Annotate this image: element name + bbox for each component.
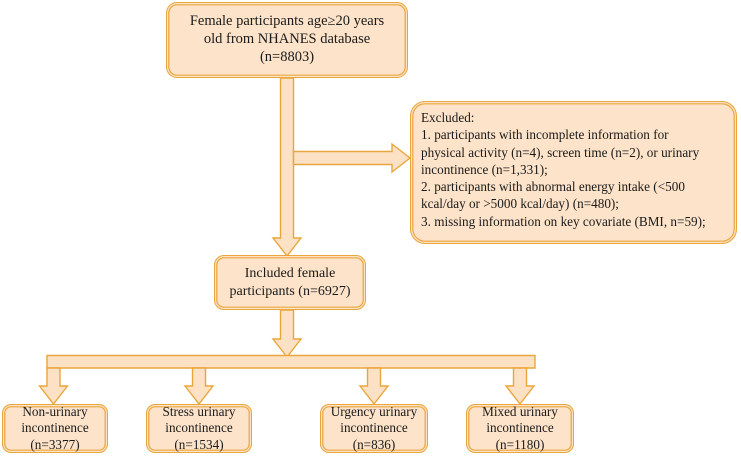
outcome-0-line-1: Non-urinary [22,404,87,419]
outcome-1-line-2: incontinence [165,420,232,435]
node-exclusion-criteria-text: Excluded: 1. participants with incomplet… [421,109,706,230]
arrow-branch-2 [360,368,388,404]
node-source-population: Female participants age≥20 years old fro… [166,2,408,78]
source-line-1: Female participants age≥20 years [190,13,384,29]
node-exclusion-criteria: Excluded: 1. participants with incomplet… [410,101,737,244]
flowchart-canvas: Female participants age≥20 years old fro… [0,0,741,456]
outcome-3-line-3: (n=1180) [496,437,545,452]
arrow-branch-3 [506,368,534,404]
outcome-0-text: Non-urinary incontinence (n=3377) [16,404,93,452]
excluded-line-7: 3. missing information on key covariate … [421,214,706,229]
excluded-line-6: kcal/day or >5000 kcal/day) (n=480); [421,196,619,211]
arrow-branch-0 [40,368,68,404]
source-line-3: (n=8803) [260,49,314,65]
included-line-1: Included female [245,266,336,281]
arrow-included-to-bar [273,310,301,357]
outcome-2-line-2: incontinence [340,420,407,435]
outcome-2-line-1: Urgency urinary [331,404,418,419]
excluded-line-1: Excluded: [421,110,474,125]
excluded-line-3: physical activity (n=4), screen time (n=… [421,145,699,160]
node-outcome-non-urinary-incontinence: Non-urinary incontinence (n=3377) [2,404,108,453]
node-outcome-stress-urinary-incontinence: Stress urinary incontinence (n=1534) [146,404,252,453]
node-outcome-mixed-urinary-incontinence: Mixed urinary incontinence (n=1180) [466,404,574,453]
outcome-1-line-1: Stress urinary [163,404,236,419]
outcome-1-text: Stress urinary incontinence (n=1534) [158,404,241,452]
arrow-top-to-included [273,78,301,256]
outcome-3-text: Mixed urinary incontinence (n=1180) [477,404,563,452]
outcome-0-line-2: incontinence [21,420,88,435]
node-included-participants-text: Included female participants (n=6927) [224,265,355,299]
distributor-bar [47,356,535,369]
outcome-1-line-3: (n=1534) [174,437,223,452]
node-source-population-text: Female participants age≥20 years old fro… [185,13,389,66]
excluded-line-5: 2. participants with abnormal energy int… [421,179,685,194]
arrow-branch-1 [185,368,213,404]
excluded-line-4: incontinence (n=1,331); [421,162,548,177]
outcome-0-line-3: (n=3377) [30,437,79,452]
arrow-to-excluded [294,144,411,172]
included-line-2: participants (n=6927) [229,284,350,299]
node-included-participants: Included female participants (n=6927) [214,255,366,310]
outcome-2-line-3: (n=836) [353,437,396,452]
outcome-2-text: Urgency urinary incontinence (n=836) [326,404,423,452]
excluded-line-2: 1. participants with incomplete informat… [421,127,669,142]
outcome-3-line-1: Mixed urinary [482,404,558,419]
source-line-2: old from NHANES database [204,31,370,47]
outcome-3-line-2: incontinence [486,420,553,435]
node-outcome-urgency-urinary-incontinence: Urgency urinary incontinence (n=836) [320,404,428,453]
